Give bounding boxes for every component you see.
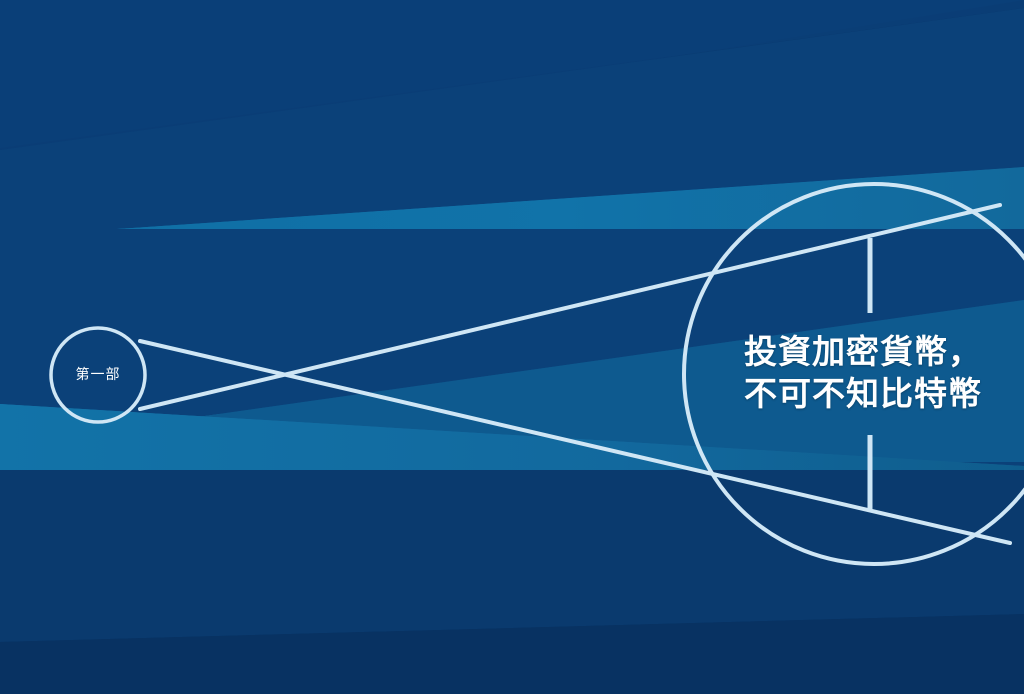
section-title: 投資加密貨幣， 不可不知比特幣 xyxy=(700,332,1000,416)
part-divider-page: 第一部 投資加密貨幣， 不可不知比特幣 xyxy=(0,0,1024,694)
section-title-line-2: 不可不知比特幣 xyxy=(700,374,982,416)
section-title-line-1: 投資加密貨幣， xyxy=(700,332,982,374)
